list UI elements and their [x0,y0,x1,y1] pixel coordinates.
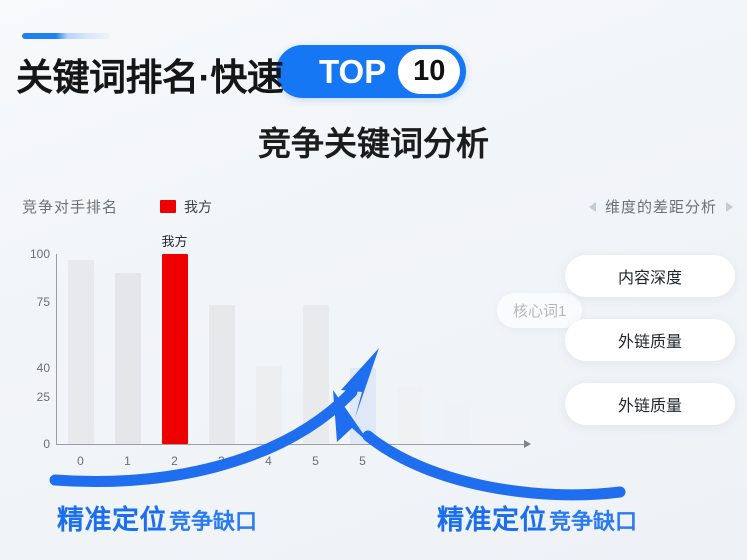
triangle-right-icon [726,202,733,212]
top-rank-badge: TOP 10 [276,45,466,98]
dimension-panel-title: 维度的差距分析 [605,196,717,217]
dimension-panel-header: 维度的差距分析 [589,196,733,217]
caption-right-strong: 精准定位 [437,498,547,537]
legend-item-ours: 我方 [160,197,212,217]
page-title: 竞争关键词分析 [0,117,747,165]
caption-left-strong: 精准定位 [57,498,167,537]
accent-divider [22,33,110,39]
chart-legend: 竞争对手排名 我方 [22,196,212,217]
arrow-head-left [341,348,379,418]
arrow-path-right [368,436,620,495]
caption-left-weak: 竞争缺口 [169,504,257,536]
chart-legend-title: 竞争对手排名 [22,196,118,217]
poster-canvas: 关键词排名·快速 TOP 10 竞争关键词分析 竞争对手排名 我方 维度的差距分… [0,0,747,560]
trend-arrows [0,240,747,510]
arrow-path-left [55,392,352,482]
headline: 关键词排名·快速 [16,46,283,102]
legend-item-label: 我方 [184,197,212,217]
caption-left: 精准定位 竞争缺口 [57,498,257,537]
badge-word-label: TOP [319,53,386,91]
caption-right-weak: 竞争缺口 [549,504,637,536]
triangle-left-icon [589,202,596,212]
legend-swatch-icon [160,200,176,213]
headline-text: 关键词排名·快速 [16,47,283,101]
caption-right: 精准定位 竞争缺口 [437,498,637,537]
badge-number-label: 10 [398,49,460,94]
